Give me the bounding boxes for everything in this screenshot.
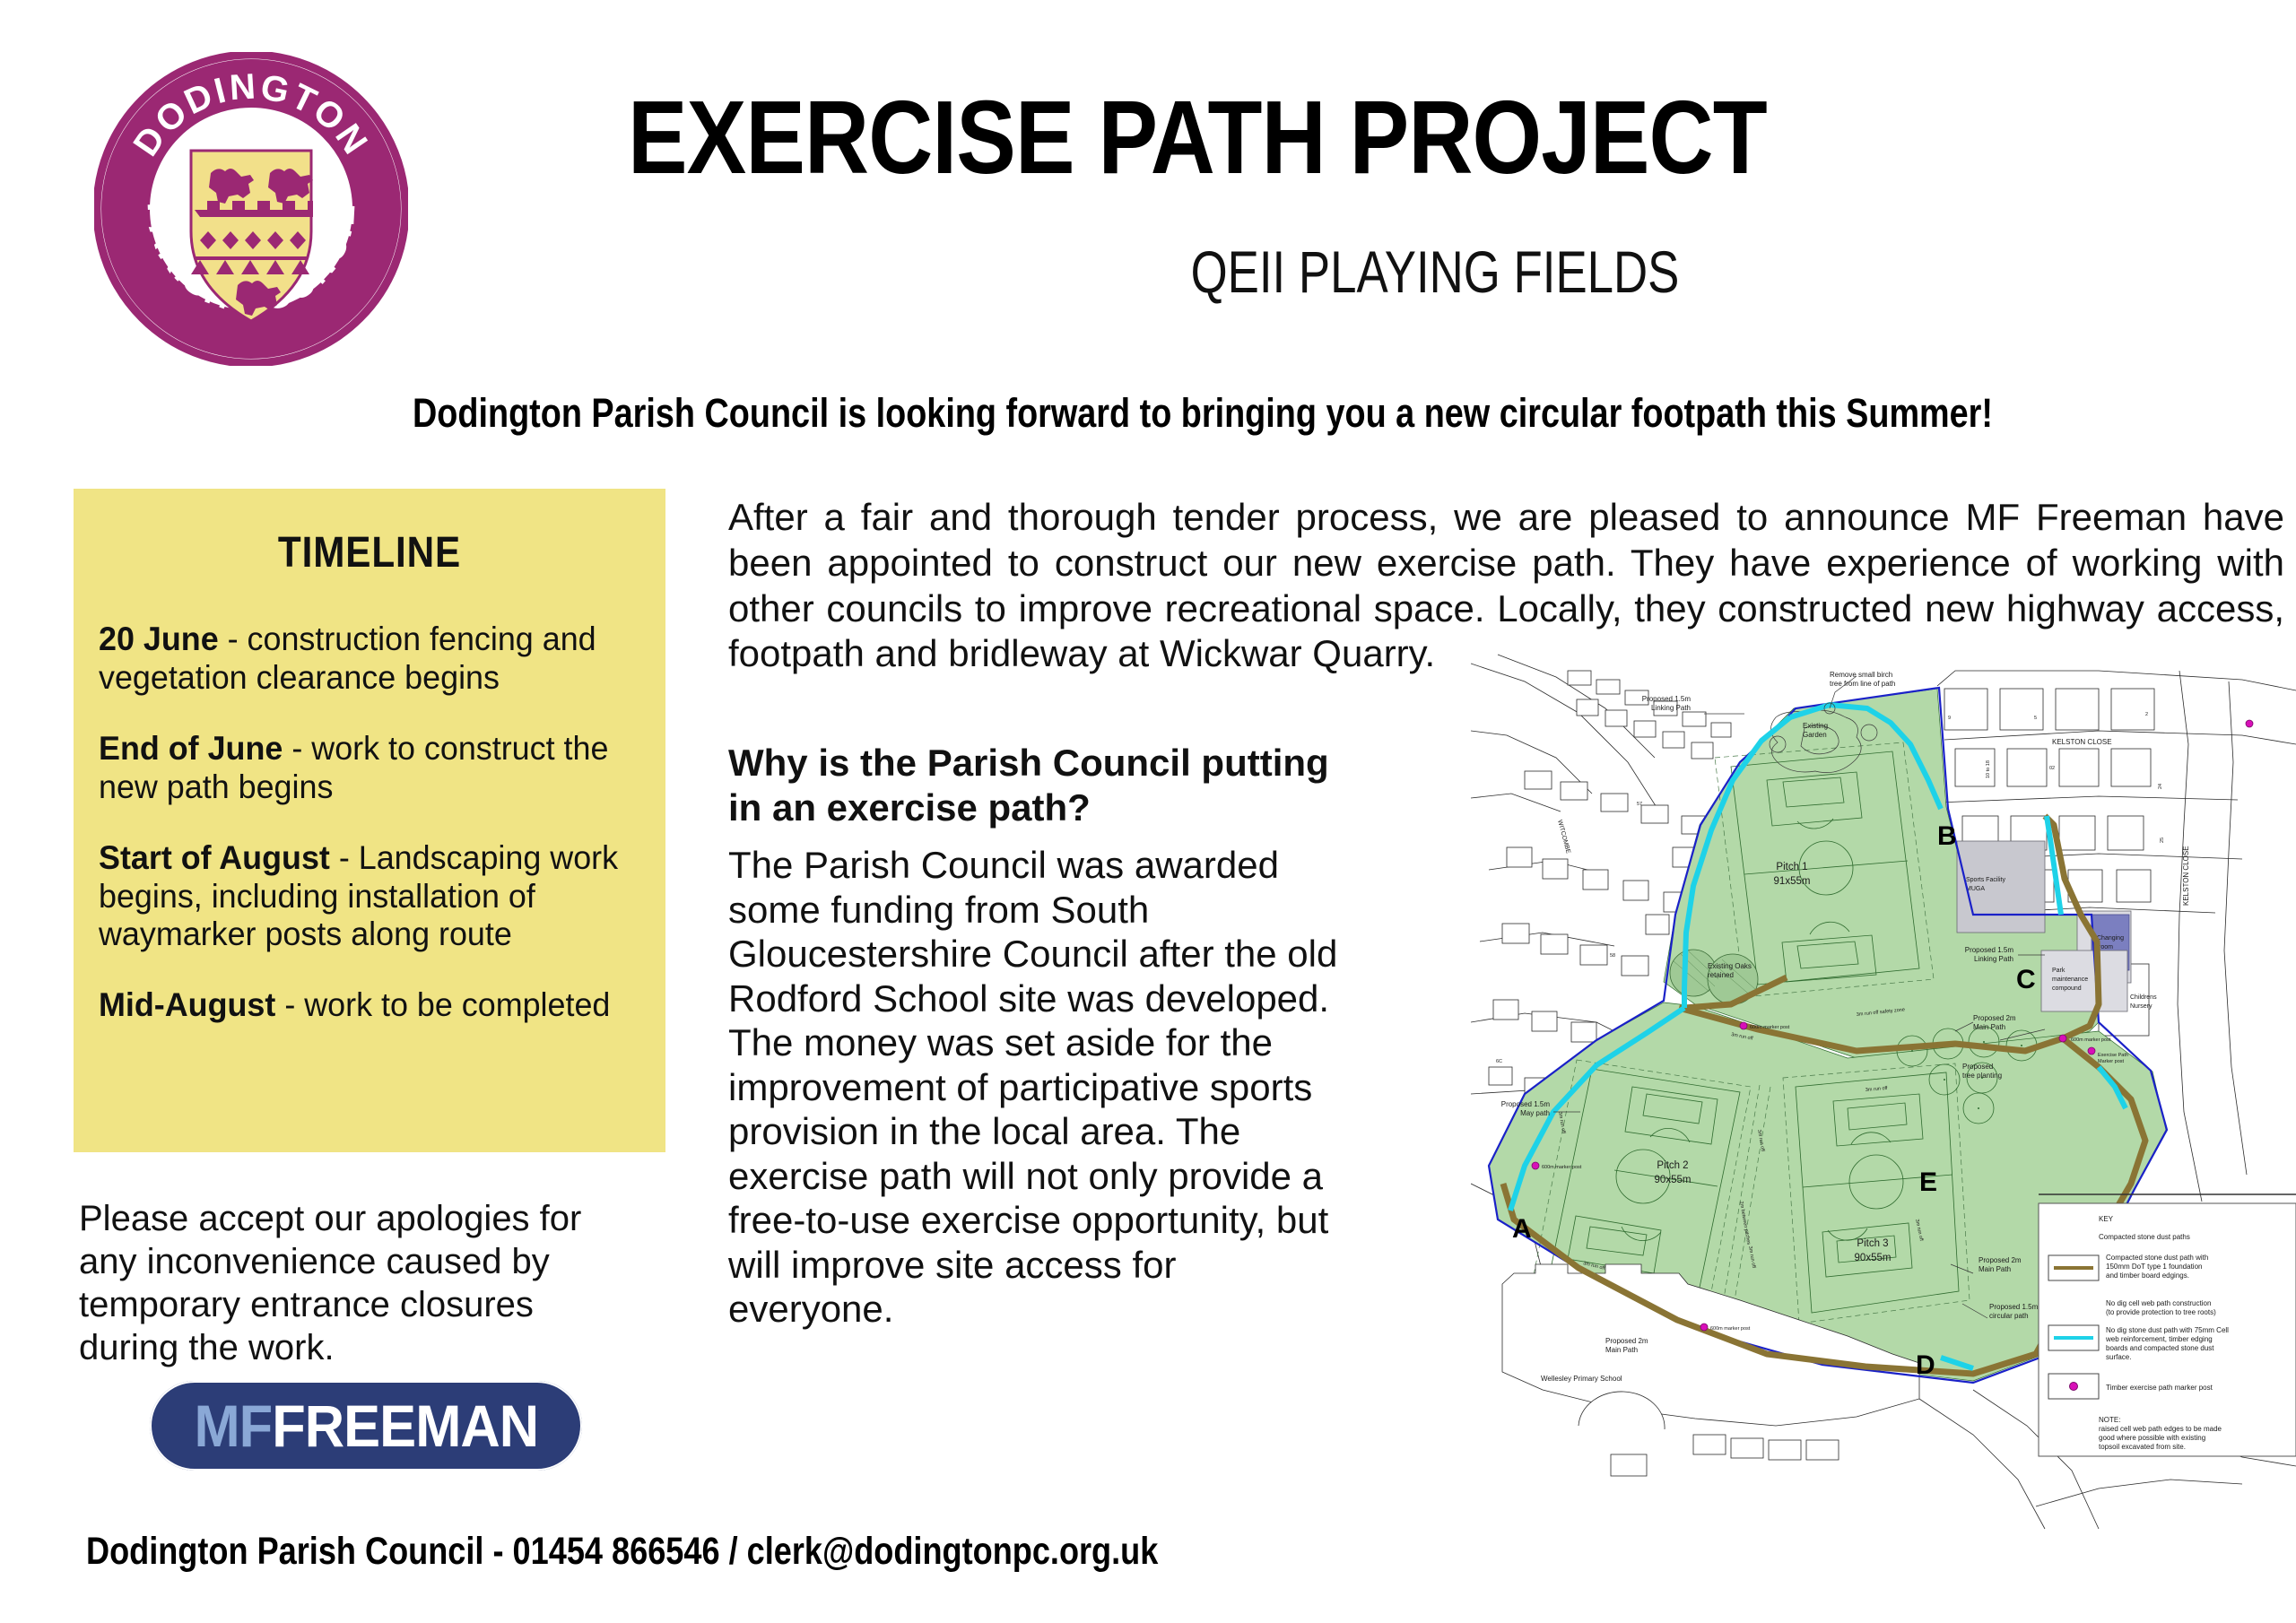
- why-heading: Why is the Parish Council putting in an …: [728, 741, 1347, 829]
- svg-text:MUGA: MUGA: [1966, 886, 1985, 892]
- svg-text:tree from line of path: tree from line of path: [1830, 680, 1895, 688]
- svg-text:600m marker post: 600m marker post: [2071, 1037, 2111, 1043]
- pitch-3-label: Pitch 3: [1857, 1238, 1888, 1249]
- poster-page: DODINGTON PARISH COUNCIL: [0, 0, 2296, 1623]
- tagline: Dodington Parish Council is looking forw…: [413, 393, 1987, 433]
- key-entry-1-line1: Compacted stone dust path with: [2106, 1254, 2208, 1262]
- svg-text:24: 24: [2158, 784, 2163, 789]
- svg-text:compound: compound: [2052, 985, 2082, 992]
- svg-text:Linking Path: Linking Path: [1651, 704, 1691, 712]
- map-annotation-main-path-2: Proposed 2m: [1979, 1256, 2022, 1264]
- key-intro: Compacted stone dust paths: [2099, 1233, 2190, 1241]
- svg-text:retained: retained: [1708, 971, 1734, 979]
- timeline-item: 20 June - construction fencing and veget…: [99, 621, 626, 698]
- timeline-item-date: Start of August: [99, 839, 330, 876]
- svg-text:5: 5: [2034, 716, 2037, 721]
- svg-text:6C: 6C: [1496, 1059, 1502, 1064]
- timeline-item-date: Mid-August: [99, 986, 275, 1023]
- svg-text:Nursery: Nursery: [2130, 1003, 2152, 1010]
- map-annotation-remove-birch: Remove small birch: [1830, 671, 1892, 679]
- svg-text:600m marker post: 600m marker post: [1710, 1326, 1751, 1332]
- pitch-3-size: 90x55m: [1855, 1253, 1892, 1263]
- svg-text:02: 02: [2049, 766, 2055, 771]
- svg-text:Exercise Path: Exercise Path: [2098, 1053, 2128, 1058]
- map-label-childrens-nursery: Childrens: [2130, 994, 2157, 1001]
- timeline-item: End of June - work to construct the new …: [99, 730, 626, 807]
- key-note-title: NOTE:: [2099, 1416, 2120, 1424]
- svg-text:Marker post: Marker post: [2098, 1059, 2125, 1064]
- key-note-line1: raised cell web path edges to be made: [2099, 1425, 2222, 1433]
- map-annotation-main-path-1: Proposed 2m: [1973, 1014, 2016, 1022]
- svg-text:2: 2: [2145, 712, 2148, 717]
- map-label-tree-planting: Proposed: [1962, 1063, 1993, 1071]
- svg-text:58: 58: [1610, 953, 1615, 959]
- mf-logo-part1: MF: [194, 1393, 272, 1459]
- svg-text:good where possible with exist: good where possible with existing: [2099, 1434, 2205, 1442]
- svg-text:Garden: Garden: [1803, 731, 1827, 739]
- street-label-kelston-close-2: KELSTON CLOSE: [2182, 846, 2190, 906]
- page-subtitle: QEII PLAYING FIELDS: [789, 242, 2081, 301]
- svg-text:Main Path: Main Path: [1979, 1265, 2011, 1273]
- street-label-kelston-close-1: KELSTON CLOSE: [2052, 738, 2112, 746]
- svg-text:surface.: surface.: [2106, 1353, 2131, 1361]
- svg-text:150mm DoT type 1 foundation: 150mm DoT type 1 foundation: [2106, 1263, 2202, 1271]
- svg-text:May path: May path: [1520, 1109, 1550, 1117]
- map-label-changing-room: Changing: [2097, 935, 2124, 942]
- timeline-heading: TIMELINE: [109, 528, 631, 577]
- svg-text:57: 57: [1637, 802, 1642, 807]
- svg-text:maintenance: maintenance: [2052, 976, 2088, 983]
- timeline-items: 20 June - construction fencing and veget…: [99, 621, 642, 1025]
- map-marker-C: C: [2016, 965, 2036, 994]
- pitch-1-size: 91x55m: [1774, 876, 1811, 887]
- svg-text:Main Path: Main Path: [1973, 1023, 2005, 1031]
- key-title: KEY: [2099, 1215, 2114, 1223]
- svg-text:9: 9: [1948, 716, 1951, 721]
- key-entry-2-line1: No dig cell web path construction: [2106, 1299, 2211, 1307]
- svg-text:topsoil excavated from site.: topsoil excavated from site.: [2099, 1443, 2186, 1451]
- apology-text: Please accept our apologies for any inco…: [79, 1197, 635, 1369]
- map-label-existing-garden: Existing: [1803, 722, 1828, 730]
- map-key-legend: KEY Compacted stone dust paths Compacted…: [2039, 1203, 2296, 1456]
- street-label-witcombe: WITCOMBE: [1556, 820, 1571, 855]
- timeline-item-date: End of June: [99, 730, 283, 767]
- map-annotation-linking-path-2: Proposed 1.5m: [1965, 946, 2014, 954]
- map-label-wellesley-school: Wellesley Primary School: [1541, 1375, 1622, 1383]
- svg-text:(to provide protection to tree: (to provide protection to tree roots): [2106, 1308, 2216, 1316]
- pitch-1-label: Pitch 1: [1776, 862, 1807, 872]
- svg-text:circular path: circular path: [1989, 1312, 2029, 1320]
- svg-text:boards and compacted stone dus: boards and compacted stone dust: [2106, 1344, 2214, 1352]
- site-plan-map: .ln{fill:none;stroke:#2b2b2b;stroke-widt…: [1471, 646, 2296, 1542]
- map-annotation-circular-path: Proposed 1.5m: [1989, 1303, 2039, 1311]
- map-annotation-linking-path-3: Proposed 1.5m: [1501, 1100, 1551, 1108]
- map-label-park-maintenance: Park: [2052, 968, 2066, 974]
- page-title: EXERCISE PATH PROJECT: [628, 85, 2016, 189]
- svg-text:25: 25: [2160, 838, 2165, 843]
- map-annotation-linking-path-1: Proposed 1.5m: [1642, 695, 1692, 703]
- timeline-item: Start of August - Landscaping work begin…: [99, 839, 626, 955]
- svg-text:Main Path: Main Path: [1605, 1346, 1638, 1354]
- pitch-2-label: Pitch 2: [1657, 1160, 1688, 1171]
- svg-text:tree planting: tree planting: [1962, 1072, 2002, 1080]
- svg-text:600m marker post: 600m marker post: [1750, 1025, 1790, 1030]
- svg-text:and timber board edgings.: and timber board edgings.: [2106, 1271, 2189, 1280]
- svg-text:600m marker post: 600m marker post: [1542, 1165, 1582, 1170]
- map-label-existing-oaks: Existing Oaks: [1708, 962, 1752, 970]
- map-marker-D: D: [1916, 1350, 1935, 1380]
- svg-text:10 to 18: 10 to 18: [1986, 760, 1991, 778]
- dodington-parish-council-logo: DODINGTON PARISH COUNCIL: [94, 52, 408, 366]
- svg-text:room: room: [2099, 944, 2113, 950]
- timeline-item: Mid-August - work to be completed: [99, 986, 626, 1025]
- map-label-muga: Sports Facility: [1966, 877, 2005, 883]
- key-entry-3-line1: No dig stone dust path with 75mm Cell: [2106, 1326, 2229, 1334]
- timeline-item-text: - work to be completed: [275, 986, 610, 1023]
- pitch-2-size: 90x55m: [1655, 1175, 1692, 1185]
- map-marker-A: A: [1512, 1214, 1532, 1244]
- map-marker-B: B: [1937, 821, 1957, 851]
- key-entry-4: Timber exercise path marker post: [2106, 1384, 2213, 1392]
- mf-logo-part2: FREEMAN: [272, 1393, 538, 1459]
- svg-text:web reinforcement, timber edgi: web reinforcement, timber edging: [2105, 1335, 2213, 1343]
- mf-freeman-logo: MFFREEMAN: [150, 1381, 582, 1471]
- svg-text:Linking Path: Linking Path: [1974, 955, 2013, 963]
- timeline-box: TIMELINE 20 June - construction fencing …: [74, 489, 665, 1152]
- map-marker-E: E: [1919, 1167, 1937, 1197]
- map-annotation-main-path-3: Proposed 2m: [1605, 1337, 1648, 1345]
- why-paragraph: The Parish Council was awarded some fund…: [728, 843, 1347, 1332]
- timeline-item-date: 20 June: [99, 621, 219, 657]
- footer-contact: Dodington Parish Council - 01454 866546 …: [86, 1530, 1291, 1574]
